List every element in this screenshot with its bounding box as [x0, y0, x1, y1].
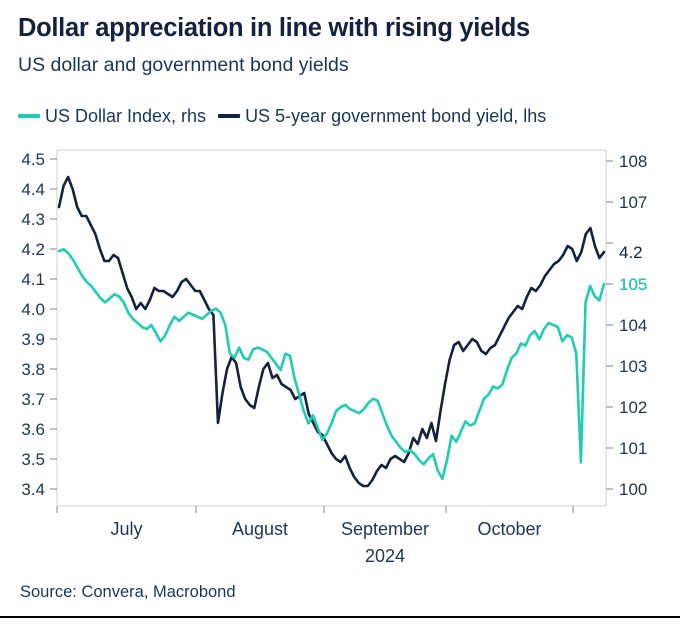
- x-axis-year-label: 2024: [365, 546, 405, 566]
- chart-page: Dollar appreciation in line with rising …: [0, 0, 680, 626]
- chart-axes: [50, 150, 613, 513]
- y-axis-label-left: 3.5: [21, 450, 45, 469]
- y-axis-label-left: 3.9: [21, 330, 45, 349]
- x-axis-label: August: [232, 519, 288, 539]
- y-axis-label-right: 104: [619, 316, 647, 335]
- y-axis-label-left: 4.1: [21, 270, 45, 289]
- y-axis-label-left: 3.4: [21, 480, 45, 499]
- y-axis-label-right: 107: [619, 193, 647, 212]
- y-axis-label-left: 3.8: [21, 360, 45, 379]
- y-axis-label-right: 108: [619, 152, 647, 171]
- series-line: [59, 177, 604, 486]
- footer-divider: [0, 616, 680, 618]
- y-axis-label-right: 101: [619, 439, 647, 458]
- y-axis-label-right: 102: [619, 398, 647, 417]
- source-note: Source: Convera, Macrobond: [20, 583, 236, 602]
- y-axis-label-left: 4.3: [21, 210, 45, 229]
- y-axis-label-left: 4.0: [21, 300, 45, 319]
- x-axis-label: September: [341, 519, 429, 539]
- y-axis-label-right: 103: [619, 357, 647, 376]
- series-line: [59, 249, 604, 479]
- line-chart-svg: 3.43.53.63.73.83.94.04.14.24.34.44.51001…: [0, 0, 680, 626]
- chart-series: [59, 177, 604, 486]
- x-axis-label: July: [110, 519, 142, 539]
- y-axis-label-left: 3.6: [21, 420, 45, 439]
- chart-axis-labels: 3.43.53.63.73.83.94.04.14.24.34.44.51001…: [21, 150, 647, 566]
- y-axis-label-left: 4.5: [21, 150, 45, 169]
- series-end-value-label: 4.2: [619, 243, 643, 262]
- y-axis-label-left: 4.2: [21, 240, 45, 259]
- series-end-value-label: 105: [619, 275, 647, 294]
- y-axis-label-right: 100: [619, 480, 647, 499]
- x-axis-label: October: [477, 519, 541, 539]
- chart-plot-area: 3.43.53.63.73.83.94.04.14.24.34.44.51001…: [0, 0, 680, 626]
- y-axis-label-left: 4.4: [21, 180, 45, 199]
- y-axis-label-left: 3.7: [21, 390, 45, 409]
